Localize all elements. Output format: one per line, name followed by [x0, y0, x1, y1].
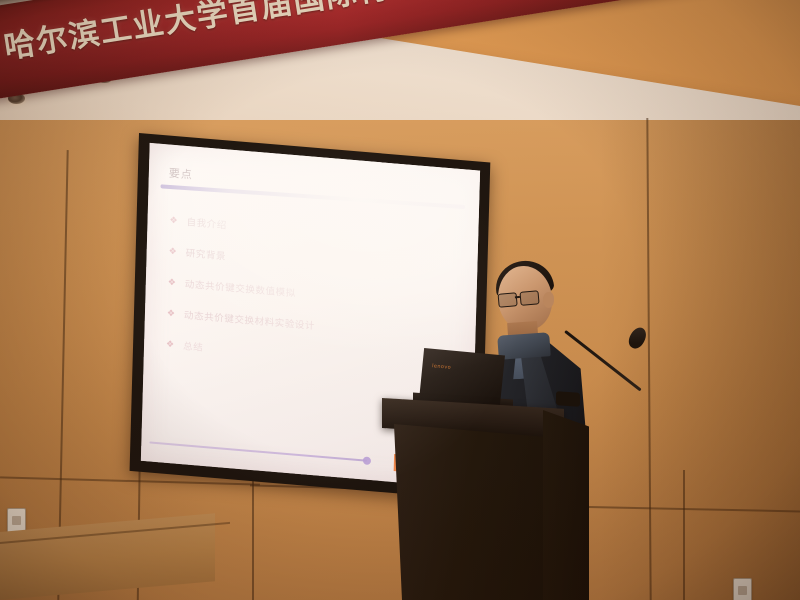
wall-shading-right — [600, 120, 800, 600]
glasses-left-lens — [498, 292, 518, 308]
list-item-label: 动态共价键交换数值模拟 — [185, 276, 296, 299]
list-item: ❖ 动态共价键交换数值模拟 — [168, 275, 448, 312]
diamond-bullet-icon: ❖ — [166, 339, 174, 349]
presenter-ear — [543, 292, 554, 308]
slide-title: 要点 — [169, 165, 193, 183]
slide-bullet-list: ❖ 自我介绍 ❖ 研究背景 ❖ 动态共价键交换数值模拟 ❖ 动态共价键交换材料实… — [165, 213, 449, 391]
glasses-icon — [498, 290, 541, 306]
list-item: ❖ 动态共价键交换材料实验设计 — [167, 306, 447, 343]
microphone-base — [556, 391, 580, 407]
list-item-label: 动态共价键交换材料实验设计 — [184, 307, 315, 332]
list-item-label: 总结 — [183, 338, 204, 354]
wall-panel-seam — [683, 470, 685, 600]
diamond-bullet-icon: ❖ — [169, 246, 177, 256]
presenter-laptop — [419, 348, 505, 406]
slide-title-rule — [161, 184, 466, 209]
list-item-label: 研究背景 — [186, 245, 227, 262]
presenter-collar — [497, 332, 551, 360]
conference-photo: 哈尔滨工业大学首届国际青年学者神舟论坛 · 材料与化工化学分论坛 要点 ❖ 自我… — [0, 0, 800, 600]
slide-footer-rule — [149, 441, 367, 462]
list-item: ❖ 研究背景 — [169, 244, 449, 281]
glasses-right-lens — [519, 290, 539, 306]
slide-footer-dot — [363, 456, 371, 465]
diamond-bullet-icon: ❖ — [168, 277, 176, 287]
list-item: ❖ 自我介绍 — [169, 213, 449, 250]
lectern-side-panel — [543, 410, 589, 600]
list-item: ❖ 总结 — [166, 337, 446, 374]
lectern-body — [394, 424, 554, 600]
wall-outlet-right — [733, 578, 752, 600]
diamond-bullet-icon: ❖ — [167, 308, 175, 318]
diamond-bullet-icon: ❖ — [169, 215, 177, 225]
list-item-label: 自我介绍 — [186, 214, 227, 231]
